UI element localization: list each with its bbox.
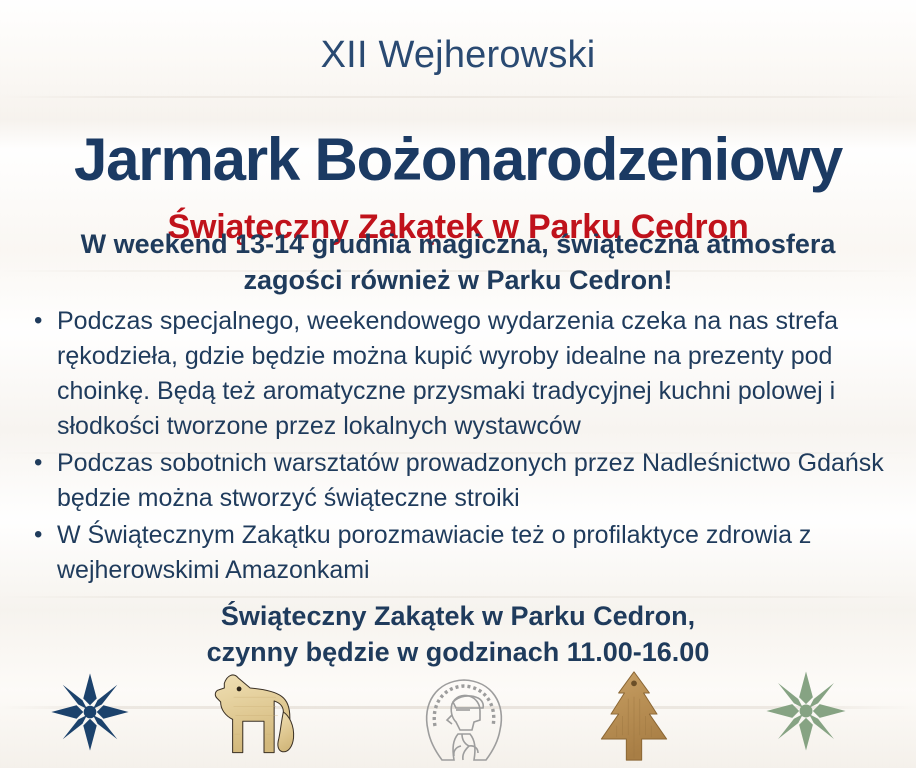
event-edition-kicker: XII Wejherowski: [0, 34, 916, 77]
intro-line-1: W weekend 13-14 grudnia magiczna, świąte…: [40, 226, 876, 262]
event-highlights-list: Podczas specjalnego, weekendowego wydarz…: [30, 304, 910, 590]
snowflake-navy-icon: [48, 670, 132, 754]
christmas-market-poster: XII Wejherowski Jarmark Bożonarodzeniowy…: [0, 0, 916, 768]
poster-content: XII Wejherowski Jarmark Bożonarodzeniowy…: [0, 0, 916, 768]
wooden-tree-icon: [586, 666, 682, 766]
city-crest-icon: [412, 668, 516, 766]
decorative-icon-strip: [0, 660, 916, 768]
list-item: Podczas specjalnego, weekendowego wydarz…: [30, 304, 910, 444]
intro-line-2: zagości również w Parku Cedron!: [40, 262, 876, 298]
list-item: Podczas sobotnich warsztatów prowadzonyc…: [30, 446, 910, 516]
list-item: W Świątecznym Zakątku porozmawiacie też …: [30, 518, 910, 588]
page-title: Jarmark Bożonarodzeniowy: [0, 128, 916, 192]
closing-line-1: Świąteczny Zakątek w Parku Cedron,: [40, 598, 876, 634]
snowflake-green-icon: [762, 668, 850, 754]
intro-paragraph: W weekend 13-14 grudnia magiczna, świąte…: [40, 226, 876, 298]
wooden-horse-icon: [196, 664, 308, 760]
